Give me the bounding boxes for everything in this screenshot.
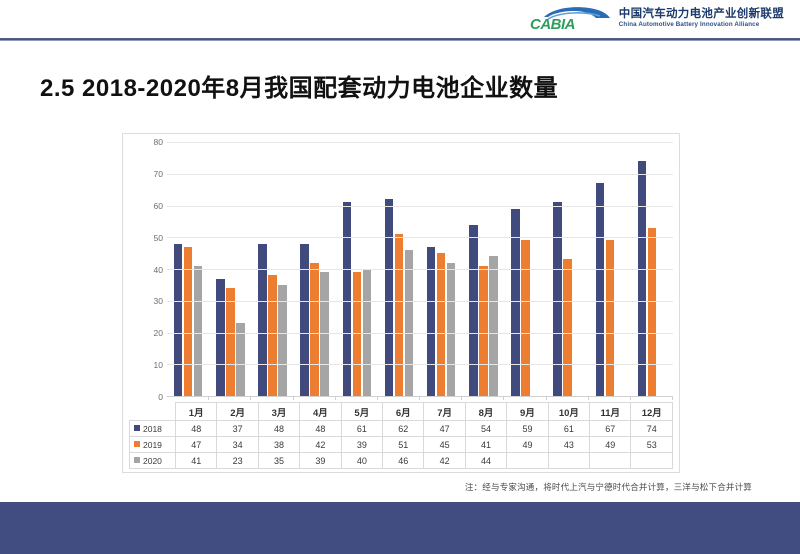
legend-swatch-icon [134,425,140,431]
table-cell: 47 [424,421,465,437]
bar-2019-4月 [310,263,319,396]
table-cell [631,453,673,469]
x-axis-tick [546,396,547,400]
bar-2019-11月 [606,240,615,396]
chart-container: 01020304050607080 1月2月3月4月5月6月7月8月9月10月1… [122,133,680,473]
plot-area: 01020304050607080 [129,142,673,397]
table-column-header: 11月 [590,403,631,421]
table-cell: 49 [507,437,548,453]
brand-text: 中国汽车动力电池产业创新联盟 China Automotive Battery … [619,8,784,29]
bar-2020-1月 [194,266,203,396]
bar-2019-5月 [353,272,362,396]
gridline [167,174,673,175]
y-axis-tick: 50 [154,233,163,243]
table-cell: 35 [258,453,299,469]
x-axis-tick [672,396,673,400]
table-cell: 37 [217,421,258,437]
y-axis-tick: 60 [154,201,163,211]
chart-data-table-body: 1月2月3月4月5月6月7月8月9月10月11月12月2018483748486… [130,403,673,469]
table-cell: 43 [548,437,589,453]
bar-2018-4月 [300,244,309,396]
table-column-header: 9月 [507,403,548,421]
legend-label: 2020 [143,456,162,466]
brand-lockup: CABIA 中国汽车动力电池产业创新联盟 China Automotive Ba… [526,4,784,32]
chart-inner: 01020304050607080 1月2月3月4月5月6月7月8月9月10月1… [123,134,679,472]
table-cell: 48 [176,421,217,437]
table-cell: 45 [424,437,465,453]
slide: CABIA 中国汽车动力电池产业创新联盟 China Automotive Ba… [0,0,800,554]
bar-2019-6月 [395,234,404,396]
table-column-header: 2月 [217,403,258,421]
bar-2019-12月 [648,228,657,396]
y-axis-tick: 10 [154,360,163,370]
page-title: 2.5 2018-2020年8月我国配套动力电池企业数量 [40,68,558,103]
x-axis-tick [419,396,420,400]
x-axis-tick [377,396,378,400]
table-cell [507,453,548,469]
table-column-header: 4月 [300,403,341,421]
bar-2018-1月 [174,244,183,396]
table-row-header-2018: 2018 [130,421,176,437]
table-row-header-2020: 2020 [130,453,176,469]
bar-2019-2月 [226,288,235,396]
y-axis-tick: 70 [154,169,163,179]
x-axis-tick [335,396,336,400]
table-cell: 23 [217,453,258,469]
table-cell: 61 [548,421,589,437]
bar-2020-7月 [447,263,456,396]
bar-2018-10月 [553,202,562,396]
gridline [167,237,673,238]
table-column-header: 3月 [258,403,299,421]
table-cell: 44 [465,453,506,469]
cabia-logo-icon: CABIA [526,4,612,32]
table-row: 20204123353940464244 [130,453,673,469]
table-cell: 41 [176,453,217,469]
table-column-header: 12月 [631,403,673,421]
bar-2020-2月 [236,323,245,396]
table-cell: 39 [341,437,382,453]
table-column-header: 5月 [341,403,382,421]
gridline [167,333,673,334]
legend-label: 2019 [143,440,162,450]
bar-2019-8月 [479,266,488,396]
table-cell: 48 [300,421,341,437]
footer-bar [0,502,800,554]
gridline [167,269,673,270]
y-axis-tick: 80 [154,137,163,147]
bar-2019-9月 [521,240,530,396]
table-cell: 53 [631,437,673,453]
gridline [167,142,673,143]
table-column-header: 10月 [548,403,589,421]
table-row: 2019473438423951454149434953 [130,437,673,453]
table-cell [590,453,631,469]
legend-swatch-icon [134,441,140,447]
gridline [167,206,673,207]
x-axis-tick [293,396,294,400]
x-axis-tick [461,396,462,400]
table-cell: 49 [590,437,631,453]
table-cell: 47 [176,437,217,453]
header-divider [0,38,800,41]
table-cell: 51 [383,437,424,453]
x-axis-tick [208,396,209,400]
gridline [167,364,673,365]
table-cell [548,453,589,469]
bar-2019-7月 [437,253,446,396]
table-column-header: 1月 [176,403,217,421]
svg-text:CABIA: CABIA [530,16,575,32]
plot-canvas [167,142,673,397]
table-cell: 74 [631,421,673,437]
slide-header: CABIA 中国汽车动力电池产业创新联盟 China Automotive Ba… [0,0,800,40]
table-cell: 39 [300,453,341,469]
table-cell: 42 [424,453,465,469]
bar-2018-8月 [469,225,478,396]
bar-2020-8月 [489,256,498,396]
y-axis-tick: 40 [154,265,163,275]
bar-2018-6月 [385,199,394,396]
gridline [167,301,673,302]
table-column-header: 8月 [465,403,506,421]
brand-name-en: China Automotive Battery Innovation Alli… [619,22,784,29]
chart-data-table: 1月2月3月4月5月6月7月8月9月10月11月12月2018483748486… [129,402,673,469]
table-corner-cell [130,403,176,421]
y-axis-tick: 0 [158,392,163,402]
x-axis-tick [630,396,631,400]
table-cell: 48 [258,421,299,437]
table-row-header-2019: 2019 [130,437,176,453]
table-cell: 67 [590,421,631,437]
y-axis-tick: 30 [154,296,163,306]
x-axis-tick [250,396,251,400]
table-cell: 41 [465,437,506,453]
bar-2019-10月 [563,259,572,396]
table-cell: 42 [300,437,341,453]
table-cell: 46 [383,453,424,469]
legend-label: 2018 [143,424,162,434]
bar-2018-5月 [343,202,352,396]
table-cell: 61 [341,421,382,437]
x-axis-tick [503,396,504,400]
legend-swatch-icon [134,457,140,463]
bar-2019-3月 [268,275,277,396]
table-cell: 59 [507,421,548,437]
table-cell: 34 [217,437,258,453]
table-column-header: 7月 [424,403,465,421]
bar-2018-3月 [258,244,267,396]
y-axis-tick: 20 [154,328,163,338]
bar-2018-12月 [638,161,647,396]
chart-footnote: 注：经与专家沟通，将时代上汽与宁德时代合并计算，三洋与松下合并计算 [465,481,752,493]
bar-2020-4月 [320,272,329,396]
table-cell: 54 [465,421,506,437]
table-cell: 40 [341,453,382,469]
table-cell: 38 [258,437,299,453]
table-cell: 62 [383,421,424,437]
table-row: 2018483748486162475459616774 [130,421,673,437]
bar-2020-6月 [405,250,414,396]
brand-name-cn: 中国汽车动力电池产业创新联盟 [619,8,784,20]
table-column-header: 6月 [383,403,424,421]
bar-2018-2月 [216,279,225,396]
y-axis: 01020304050607080 [129,142,167,397]
table-header-row: 1月2月3月4月5月6月7月8月9月10月11月12月 [130,403,673,421]
x-axis-tick [588,396,589,400]
